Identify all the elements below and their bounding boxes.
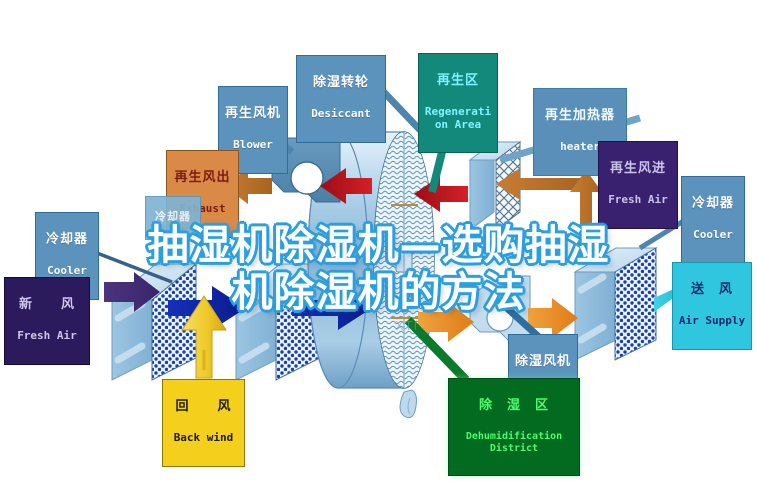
callout-cooler-mid: 冷却器 <box>145 196 201 240</box>
callout-exhaust-cn: 再生风出 <box>172 171 233 186</box>
callout-desiccant-wheel: 除湿转轮 Desiccant <box>296 55 386 143</box>
callout-dehumidification-district-cn: 除 湿 区 <box>454 399 574 414</box>
cooler-block-mid <box>236 264 320 380</box>
dehumidifier-diagram-image: XTI 除湿转轮 Desiccant 再生风机 Blower 再生区 Regen… <box>0 0 757 488</box>
callout-dehumidify-blower-cn: 除湿风机 <box>514 355 572 370</box>
callout-regeneration-fresh-air-in: 再生风进 Fresh Air <box>598 141 678 229</box>
callout-cooler-left-en: Cooler <box>41 265 93 277</box>
callout-regeneration-area: 再生区 Regenerati on Area <box>418 53 498 153</box>
callout-regeneration-fresh-air-in-en: Fresh Air <box>604 194 672 206</box>
callout-regeneration-fresh-air-in-cn: 再生风进 <box>604 162 672 177</box>
callout-back-wind-en: Back wind <box>168 432 239 444</box>
callout-fresh-air-in-en: Fresh Air <box>10 330 84 342</box>
callout-desiccant-wheel-en: Desiccant <box>302 108 380 120</box>
callout-cooler-left-cn: 冷却器 <box>41 233 93 248</box>
callout-air-supply: 送 风 Air Supply <box>672 262 752 350</box>
callout-regeneration-heater-cn: 再生加热器 <box>539 109 621 124</box>
callout-air-supply-en: Air Supply <box>678 315 746 327</box>
callout-regeneration-area-cn: 再生区 <box>424 74 492 89</box>
dehumidify-blower-unit <box>470 276 530 340</box>
callout-regeneration-blower-cn: 再生风机 <box>224 107 282 122</box>
callout-air-supply-cn: 送 风 <box>678 283 746 298</box>
svg-text:XTI: XTI <box>395 318 418 333</box>
callout-dehumidification-district: 除 湿 区 Dehumidification District <box>448 378 580 476</box>
callout-fresh-air-in: 新 风 Fresh Air <box>4 277 90 365</box>
callout-cooler-mid-cn: 冷却器 <box>151 211 195 223</box>
cooler-block-left <box>112 264 196 380</box>
callout-regeneration-area-en: Regenerati on Area <box>424 106 492 131</box>
callout-fresh-air-in-cn: 新 风 <box>10 298 84 313</box>
callout-cooler-right-cn: 冷却器 <box>687 197 739 212</box>
callout-back-wind: 回 风 Back wind <box>162 379 245 467</box>
callout-cooler-right: 冷却器 Cooler <box>681 176 745 264</box>
callout-desiccant-wheel-cn: 除湿转轮 <box>302 76 380 91</box>
supply-coil-block <box>575 248 656 360</box>
callout-back-wind-cn: 回 风 <box>168 400 239 415</box>
callout-cooler-right-en: Cooler <box>687 229 739 241</box>
callout-dehumidification-district-en: Dehumidification District <box>454 431 574 453</box>
